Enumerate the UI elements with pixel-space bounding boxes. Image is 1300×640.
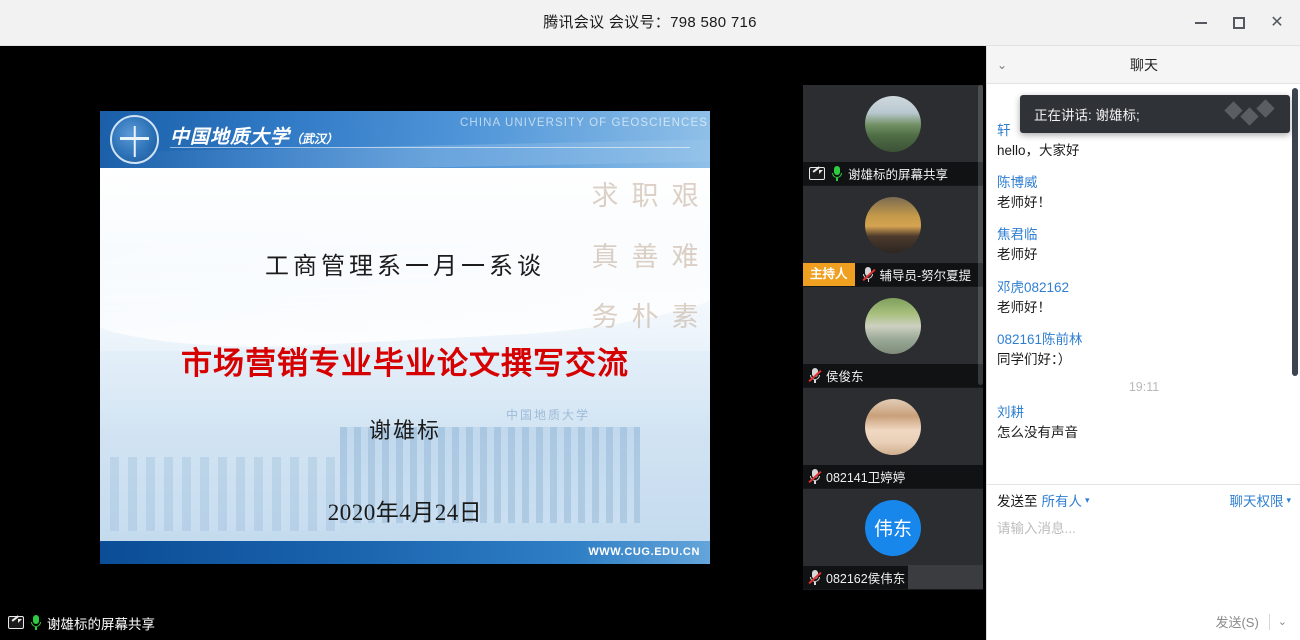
minimize-icon: [1195, 22, 1207, 24]
participant-tile[interactable]: 谢雄标的屏幕共享: [803, 85, 983, 185]
chat-permission-label: 聊天权限: [1229, 490, 1283, 510]
chat-sender: 陈博威: [997, 171, 1291, 191]
participant-info-bar: 侯俊东: [803, 364, 983, 387]
chat-message: 怎么没有声音: [997, 424, 1291, 442]
participant-tile[interactable]: 伟东 082162侯伟东: [803, 489, 983, 589]
window-controls: ✕: [1182, 0, 1296, 46]
speaking-tooltip: 正在讲话: 谢雄标;: [1020, 95, 1290, 133]
avatar: [865, 298, 921, 354]
slide-presenter: 谢雄标: [100, 413, 710, 445]
chevron-down-icon[interactable]: ▾: [1085, 495, 1090, 506]
participant-video: [803, 186, 983, 263]
university-name-en: CHINA UNIVERSITY OF GEOSCIENCES: [460, 117, 708, 129]
university-name-cn-main: 中国地质大学: [170, 127, 290, 148]
microphone-icon: [831, 166, 842, 181]
university-name-cn-paren: （武汉）: [290, 132, 338, 146]
presentation-slide: 中国地质大学（武汉） CHINA UNIVERSITY OF GEOSCIENC…: [100, 111, 710, 564]
chat-timestamp: 19:11: [997, 380, 1291, 394]
maximize-button[interactable]: [1220, 6, 1258, 40]
participant-video: [803, 287, 983, 364]
compose-actions: 发送(S) ⌄: [1207, 609, 1293, 634]
screen-share-icon: [809, 167, 825, 180]
participant-tile[interactable]: 082141卫婷婷: [803, 388, 983, 488]
chat-sender: 082161陈前林: [997, 328, 1291, 348]
university-logo-icon: [110, 115, 159, 164]
chat-sender: 邓虎082162: [997, 276, 1291, 296]
divider: [1269, 614, 1270, 630]
compose-toolbar: 发送至 所有人 ▾ 聊天权限 ▾: [987, 485, 1300, 515]
participant-name: 082141卫婷婷: [826, 467, 905, 486]
participant-filmstrip[interactable]: 谢雄标的屏幕共享 主持人 辅导员-努尔夏提: [803, 85, 983, 590]
participant-name: 侯俊东: [826, 366, 864, 385]
host-badge: 主持人: [803, 263, 855, 286]
tile-overlay: [908, 565, 983, 589]
chat-message: 同学们好：）: [997, 351, 1291, 369]
screen-share-status-bar: 谢雄标的屏幕共享: [0, 605, 986, 640]
send-options-chevron-down-icon[interactable]: ⌄: [1272, 615, 1293, 628]
participant-info-bar: 082141卫婷婷: [803, 465, 983, 488]
filmstrip-scrollbar[interactable]: [978, 85, 983, 590]
slide-header: 中国地质大学（武汉） CHINA UNIVERSITY OF GEOSCIENC…: [100, 111, 710, 168]
chat-message: 老师好: [997, 246, 1291, 264]
chat-message-list[interactable]: 19:2 轩 hello，大家好 陈博威 老师好！ 焦君临 老师好 邓虎0821…: [987, 84, 1300, 484]
screen-share-icon: [8, 616, 24, 629]
participant-name: 082162侯伟东: [826, 568, 905, 587]
participant-video: 伟东: [803, 489, 983, 566]
maximize-icon: [1233, 17, 1245, 29]
participant-video: [803, 388, 983, 465]
calligraphy-char: 职: [626, 176, 664, 235]
chat-sender: 刘耕: [997, 401, 1291, 421]
slide-date: 2020年4月24日: [100, 493, 710, 527]
calligraphy-char: 求: [586, 176, 624, 235]
close-icon: ✕: [1270, 15, 1283, 31]
slide-header-rule: [170, 147, 690, 148]
chat-header: ⌄ 聊天: [987, 46, 1300, 84]
chat-sender: 焦君临: [997, 223, 1291, 243]
tooltip-decoration-icon: [1227, 104, 1272, 123]
slide-footer: WWW.CUG.EDU.CN: [100, 541, 710, 564]
participant-info-bar: 主持人 辅导员-努尔夏提: [803, 263, 983, 286]
chat-compose-area: 发送至 所有人 ▾ 聊天权限 ▾ 请输入消息... 发送(S) ⌄: [987, 484, 1300, 640]
participant-name: 辅导员-努尔夏提: [880, 265, 972, 284]
microphone-icon: [30, 615, 41, 630]
avatar: [865, 96, 921, 152]
chat-permission-dropdown[interactable]: 聊天权限 ▾: [1229, 485, 1291, 515]
screen-share-status-label: 谢雄标的屏幕共享: [47, 613, 155, 633]
slide-subtitle: 工商管理系一月一系谈: [100, 246, 710, 281]
send-to-dropdown[interactable]: 所有人: [1042, 490, 1083, 510]
microphone-muted-icon: [809, 570, 820, 585]
speaking-tooltip-text: 正在讲话: 谢雄标;: [1034, 104, 1140, 124]
title-bar: 腾讯会议 会议号：798 580 716 ✕: [0, 0, 1300, 46]
microphone-muted-icon: [809, 469, 820, 484]
microphone-muted-icon: [809, 368, 820, 383]
participant-info-bar: 谢雄标的屏幕共享: [803, 162, 983, 185]
participant-name: 谢雄标的屏幕共享: [848, 164, 948, 183]
send-button[interactable]: 发送(S): [1207, 609, 1266, 634]
microphone-muted-icon: [863, 267, 874, 282]
chat-message: 老师好！: [997, 194, 1291, 212]
message-input[interactable]: 请输入消息...: [997, 517, 1291, 595]
slide-body: 中国地质大学 求 职 艰 真 善 难 务 朴 素 工商管理系一月一系谈 市场营销…: [100, 168, 710, 541]
chat-message: 老师好！: [997, 299, 1291, 317]
participant-video: [803, 85, 983, 162]
filmstrip-scrollbar-thumb[interactable]: [978, 85, 983, 385]
chat-scrollbar-thumb[interactable]: [1292, 88, 1298, 376]
participant-tile[interactable]: 侯俊东: [803, 287, 983, 387]
chat-title: 聊天: [987, 46, 1300, 84]
meeting-window: 腾讯会议 会议号：798 580 716 ✕ 中国地质大学（武汉） CHINA …: [0, 0, 1300, 640]
avatar: 伟东: [865, 500, 921, 556]
participant-tile[interactable]: 主持人 辅导员-努尔夏提: [803, 186, 983, 286]
avatar: [865, 399, 921, 455]
minimize-button[interactable]: [1182, 6, 1220, 40]
window-title: 腾讯会议 会议号：798 580 716: [0, 0, 1300, 46]
slide-footer-url: WWW.CUG.EDU.CN: [588, 541, 700, 564]
calligraphy-char: 艰: [666, 176, 704, 235]
university-name-cn: 中国地质大学（武汉）: [170, 122, 338, 149]
close-button[interactable]: ✕: [1258, 6, 1296, 40]
slide-title: 市场营销专业毕业论文撰写交流: [100, 338, 710, 383]
chat-panel: ⌄ 聊天 19:2 轩 hello，大家好 陈博威 老师好！ 焦君临 老师好 邓…: [986, 46, 1300, 640]
chat-scrollbar[interactable]: [1292, 88, 1298, 482]
send-to-label: 发送至: [997, 490, 1038, 510]
chat-message: hello，大家好: [997, 142, 1291, 160]
avatar: [865, 197, 921, 253]
chevron-down-icon: ▾: [1286, 495, 1291, 506]
